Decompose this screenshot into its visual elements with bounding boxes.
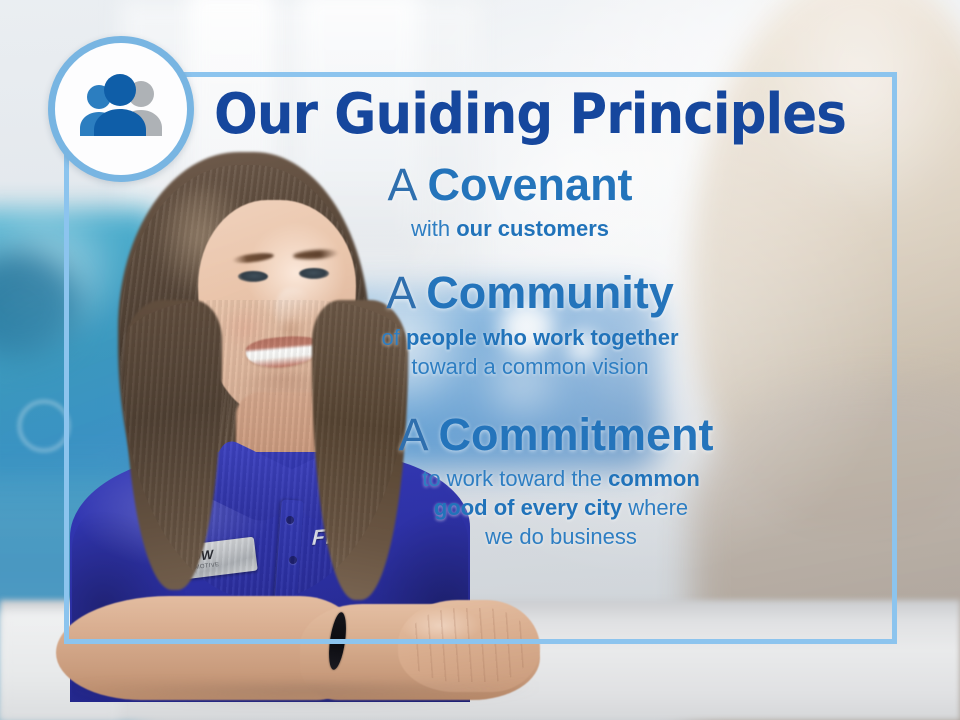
principle-body-community: of people who work together toward a com… [180,323,880,381]
principle-heading-commitment: A Commitment [232,411,880,458]
people-group-icon [73,72,169,146]
article: A [387,159,415,210]
principle-heading-community: A Community [180,269,880,316]
principle-body-commitment: to work toward the common good of every … [232,464,880,551]
principle-commitment: A Commitment to work toward the common g… [180,411,880,551]
poster-canvas: FLOW FLOW AUTOMOTIVE [0,0,960,720]
principle-community: A Community of people who work together … [180,269,880,380]
article: A [386,267,414,318]
body-line: to work toward the common [242,464,880,493]
body-line: with our customers [411,216,609,241]
people-badge [48,36,194,182]
arm-shadow [70,684,540,706]
body-line: of people who work together [180,323,880,352]
principle-heading-covenant: A Covenant [180,161,840,208]
body-line: toward a common vision [180,352,880,381]
principle-covenant: A Covenant with our customers [180,161,880,243]
body-line: we do business [242,522,880,551]
keyword: Covenant [428,159,633,210]
body-line: good of every city where [242,493,880,522]
text-block: Our Guiding Principles A Covenant with o… [180,86,880,551]
article: A [398,409,426,460]
keyword: Commitment [439,409,714,460]
principle-body-covenant: with our customers [180,214,840,243]
keyword: Community [426,267,674,318]
page-title: Our Guiding Principles [208,86,852,143]
finger-detail [406,608,532,682]
